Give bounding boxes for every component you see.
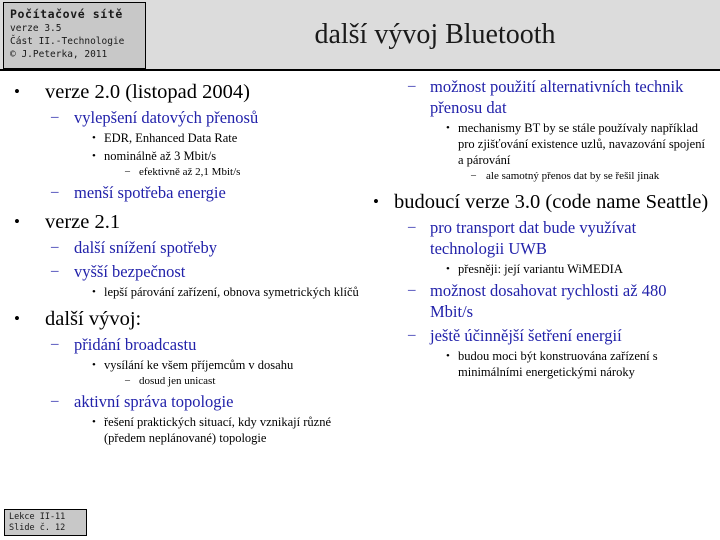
bullet-level-3: •budou moci být konstruována zařízení s … bbox=[368, 348, 712, 380]
dash-marker-icon: – bbox=[471, 169, 476, 183]
bullet-text: vysílání ke všem příjemcům v dosahu bbox=[104, 357, 364, 373]
bullet-text: nominálně až 3 Mbit/s bbox=[104, 148, 364, 164]
bullet-marker-icon: • bbox=[14, 307, 20, 331]
bullet-level-2: –aktivní správa topologie bbox=[14, 391, 364, 412]
bullet-marker-icon: • bbox=[92, 414, 96, 430]
bullet-text: lepší párování zařízení, obnova symetric… bbox=[104, 284, 364, 300]
bullet-text: přidání broadcastu bbox=[74, 334, 364, 355]
dash-marker-icon: – bbox=[408, 217, 416, 238]
bullet-text: ale samotný přenos dat by se řešil jinak bbox=[486, 169, 712, 183]
dash-marker-icon: – bbox=[51, 391, 59, 412]
bullet-level-2: –pro transport dat bude využívat technol… bbox=[368, 217, 712, 259]
bullet-marker-icon: • bbox=[92, 148, 96, 164]
bullet-text: budoucí verze 3.0 (code name Seattle) bbox=[394, 190, 712, 214]
bullet-level-1: •verze 2.0 (listopad 2004) bbox=[14, 80, 364, 104]
bullet-level-1: •verze 2.1 bbox=[14, 210, 364, 234]
bullet-level-4: –efektivně až 2,1 Mbit/s bbox=[14, 165, 364, 179]
bullet-text: efektivně až 2,1 Mbit/s bbox=[139, 165, 364, 179]
bullet-text: vyšší bezpečnost bbox=[74, 261, 364, 282]
slide-header-band: Počítačové sítě verze 3.5 Část II.-Techn… bbox=[0, 0, 720, 71]
bullet-text: možnost dosahovat rychlosti až 480 Mbit/… bbox=[430, 280, 712, 322]
bullet-marker-icon: • bbox=[14, 210, 20, 234]
dash-marker-icon: – bbox=[408, 280, 416, 301]
bullet-text: řešení praktických situací, kdy vznikají… bbox=[104, 414, 364, 446]
bullet-text: verze 2.0 (listopad 2004) bbox=[45, 80, 364, 104]
bullet-marker-icon: • bbox=[92, 357, 96, 373]
course-copyright: © J.Peterka, 2011 bbox=[10, 48, 140, 61]
bullet-text: další vývoj: bbox=[45, 307, 364, 331]
bullet-level-2: –další snížení spotřeby bbox=[14, 237, 364, 258]
bullet-level-3: •vysílání ke všem příjemcům v dosahu bbox=[14, 357, 364, 373]
dash-marker-icon: – bbox=[125, 374, 130, 388]
bullet-level-3: •EDR, Enhanced Data Rate bbox=[14, 130, 364, 146]
bullet-level-1: •budoucí verze 3.0 (code name Seattle) bbox=[368, 190, 712, 214]
bullet-level-2: –vylepšení datových přenosů bbox=[14, 107, 364, 128]
dash-marker-icon: – bbox=[51, 261, 59, 282]
bullet-marker-icon: • bbox=[446, 261, 450, 277]
dash-marker-icon: – bbox=[408, 76, 416, 97]
dash-marker-icon: – bbox=[51, 237, 59, 258]
page-title: další vývoj Bluetooth bbox=[150, 0, 720, 69]
bullet-marker-icon: • bbox=[92, 130, 96, 146]
bullet-marker-icon: • bbox=[92, 284, 96, 300]
bullet-level-2: –možnost dosahovat rychlosti až 480 Mbit… bbox=[368, 280, 712, 322]
bullet-level-2: –menší spotřeba energie bbox=[14, 182, 364, 203]
bullet-level-4: –ale samotný přenos dat by se řešil jina… bbox=[368, 169, 712, 183]
bullet-level-3: •mechanismy BT by se stále používaly nap… bbox=[368, 120, 712, 168]
bullet-level-2: –přidání broadcastu bbox=[14, 334, 364, 355]
bullet-marker-icon: • bbox=[446, 348, 450, 364]
bullet-text: přesněji: její variantu WiMEDIA bbox=[458, 261, 712, 277]
bullet-text: vylepšení datových přenosů bbox=[74, 107, 364, 128]
bullet-text: EDR, Enhanced Data Rate bbox=[104, 130, 364, 146]
course-version: verze 3.5 bbox=[10, 22, 140, 35]
bullet-level-1: •další vývoj: bbox=[14, 307, 364, 331]
bullet-text: verze 2.1 bbox=[45, 210, 364, 234]
right-content-column: –možnost použití alternativních technik … bbox=[368, 73, 712, 380]
bullet-level-2: –ještě účinnější šetření energií bbox=[368, 325, 712, 346]
dash-marker-icon: – bbox=[125, 165, 130, 179]
bullet-level-2: –možnost použití alternativních technik … bbox=[368, 76, 712, 118]
bullet-text: menší spotřeba energie bbox=[74, 182, 364, 203]
bullet-text: aktivní správa topologie bbox=[74, 391, 364, 412]
left-content-column: •verze 2.0 (listopad 2004)–vylepšení dat… bbox=[14, 73, 364, 446]
dash-marker-icon: – bbox=[51, 182, 59, 203]
dash-marker-icon: – bbox=[51, 107, 59, 128]
bullet-text: pro transport dat bude využívat technolo… bbox=[430, 217, 712, 259]
bullet-text: další snížení spotřeby bbox=[74, 237, 364, 258]
bullet-text: mechanismy BT by se stále používaly např… bbox=[458, 120, 712, 168]
bullet-level-3: •nominálně až 3 Mbit/s bbox=[14, 148, 364, 164]
bullet-text: ještě účinnější šetření energií bbox=[430, 325, 712, 346]
bullet-level-3: •lepší párování zařízení, obnova symetri… bbox=[14, 284, 364, 300]
slide-content: •verze 2.0 (listopad 2004)–vylepšení dat… bbox=[0, 73, 720, 540]
dash-marker-icon: – bbox=[51, 334, 59, 355]
bullet-level-2: –vyšší bezpečnost bbox=[14, 261, 364, 282]
slide-footer-box: Lekce II-11 Slide č. 12 bbox=[4, 509, 87, 536]
bullet-text: možnost použití alternativních technik p… bbox=[430, 76, 712, 118]
bullet-text: budou moci být konstruována zařízení s m… bbox=[458, 348, 712, 380]
bullet-text: dosud jen unicast bbox=[139, 374, 364, 388]
bullet-marker-icon: • bbox=[14, 80, 20, 104]
bullet-level-3: •řešení praktických situací, kdy vznikaj… bbox=[14, 414, 364, 446]
course-title: Počítačové sítě bbox=[10, 7, 140, 22]
bullet-marker-icon: • bbox=[446, 120, 450, 136]
footer-slide-number: Slide č. 12 bbox=[9, 523, 86, 534]
bullet-level-3: •přesněji: její variantu WiMEDIA bbox=[368, 261, 712, 277]
footer-lecture: Lekce II-11 bbox=[9, 512, 86, 523]
bullet-level-4: –dosud jen unicast bbox=[14, 374, 364, 388]
bullet-marker-icon: • bbox=[373, 190, 379, 214]
course-info-box: Počítačové sítě verze 3.5 Část II.-Techn… bbox=[3, 2, 146, 69]
course-part: Část II.-Technologie bbox=[10, 35, 140, 48]
dash-marker-icon: – bbox=[408, 325, 416, 346]
